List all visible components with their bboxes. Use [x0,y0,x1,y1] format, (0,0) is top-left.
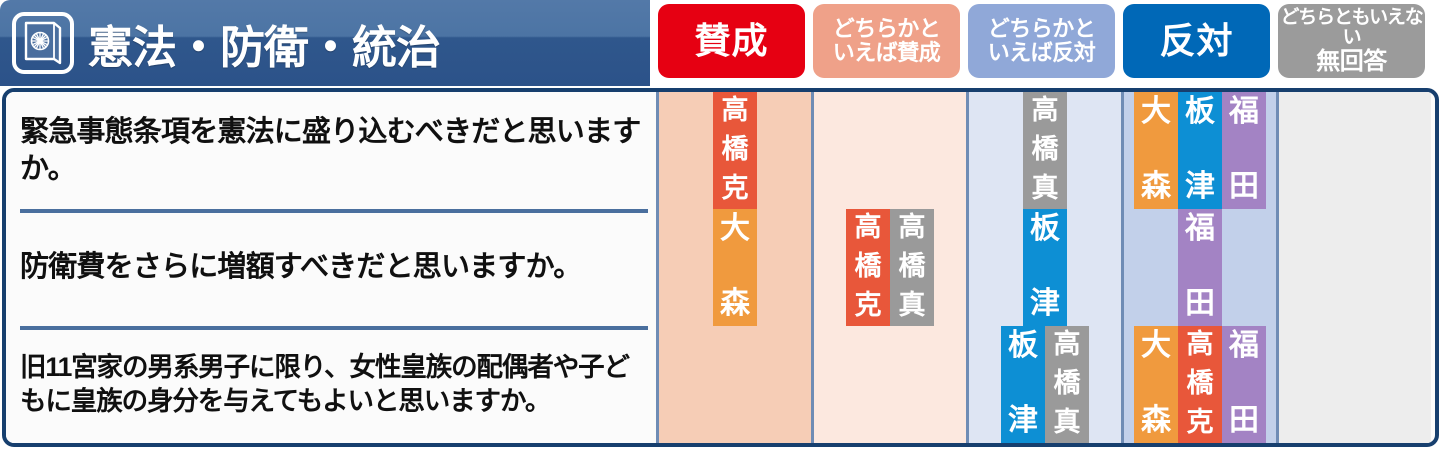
column-header-agree: 賛成 [658,4,805,78]
person-name-char: 橋 [1032,136,1059,163]
person-name-char: 田 [1185,289,1215,319]
person-name-char: 森 [1141,406,1171,436]
answer-cell-lean_agree[interactable] [811,326,966,443]
person-name-char: 橋 [899,253,926,280]
column-header-label: 賛成 [694,22,768,61]
answer-cell-lean_disagree[interactable]: 高橋真 [966,92,1121,209]
person-name-char: 克 [855,292,882,319]
column-header-label: 無回答 [1316,49,1387,75]
column-header-lean_disagree: どちらかといえば反対 [968,4,1115,78]
column-header-disagree: 反対 [1123,4,1270,78]
person-name-char: 大 [1141,97,1171,127]
answer-cell-agree[interactable]: 高橋克 [656,92,811,209]
column-header-label: どちらかと [833,17,941,41]
question-cell: 防衛費をさらに増額すべきだと思いますか。 [6,209,656,326]
column-header-label: どちらともいえない [1278,8,1425,49]
question-text: 防衛費をさらに増額すべきだと思いますか。 [20,249,581,286]
answer-cell-neither[interactable] [1276,326,1431,443]
column-header-label: いえば賛成 [833,41,941,65]
answer-cell-lean_agree[interactable] [811,92,966,209]
person-name-char: 克 [1187,409,1214,436]
table-row: 旧11宮家の男系男子に限り、女性皇族の配偶者や子どもに皇族の身分を与えてもよいと… [6,326,1435,443]
person-chip[interactable]: 板津 [1023,209,1067,326]
person-chip[interactable]: 福田 [1222,92,1266,209]
person-chip[interactable]: 板津 [1178,92,1222,209]
person-name-char: 福 [1185,214,1215,244]
person-name-char: 大 [1141,331,1171,361]
person-name-char: 橋 [722,136,749,163]
person-name-char: 津 [1185,172,1215,202]
column-header-neither: どちらともいえない無回答 [1278,4,1425,78]
answer-cells: 大森高橋克高橋真板津福田 [656,209,1435,326]
person-name-char: 森 [720,289,750,319]
person-name-char: 橋 [1187,370,1214,397]
answer-cell-neither[interactable] [1276,209,1431,326]
person-chip[interactable]: 大森 [713,209,757,326]
answer-cell-agree[interactable] [656,326,811,443]
person-name-char: 板 [1030,214,1060,244]
table-row: 緊急事態条項を憲法に盛り込むべきだと思いますか。高橋克高橋真大森板津福田 [6,92,1435,209]
person-name-char: 田 [1229,172,1259,202]
answer-cell-lean_agree[interactable]: 高橋克高橋真 [811,209,966,326]
column-header-label: どちらかと [988,17,1096,41]
person-chip[interactable]: 大森 [1134,92,1178,209]
answer-column-headers: 賛成どちらかといえば賛成どちらかといえば反対反対どちらともいえない無回答 [654,4,1441,82]
section-header-band: 憲法・防衛・統治 [0,0,650,86]
answer-cell-lean_disagree[interactable]: 板津 [966,209,1121,326]
person-name-char: 高 [899,214,926,241]
person-chip[interactable]: 高橋真 [1023,92,1067,209]
person-name-char: 高 [722,97,749,124]
column-header-label: いえば反対 [988,41,1096,65]
person-name-char: 福 [1229,331,1259,361]
person-name-char: 福 [1229,97,1259,127]
question-text: 緊急事態条項を憲法に盛り込むべきだと思いますか。 [20,114,646,187]
person-name-char: 克 [722,175,749,202]
person-name-char: 橋 [1054,370,1081,397]
answer-cell-disagree[interactable]: 福田 [1121,209,1276,326]
survey-table: 緊急事態条項を憲法に盛り込むべきだと思いますか。高橋克高橋真大森板津福田防衛費を… [2,88,1439,447]
person-name-char: 橋 [855,253,882,280]
column-header-lean_agree: どちらかといえば賛成 [813,4,960,78]
person-name-char: 高 [855,214,882,241]
person-name-char: 真 [1054,409,1081,436]
answer-cell-agree[interactable]: 大森 [656,209,811,326]
person-name-char: 高 [1054,331,1081,358]
question-cell: 旧11宮家の男系男子に限り、女性皇族の配偶者や子どもに皇族の身分を与えてもよいと… [6,326,656,443]
answer-cell-neither[interactable] [1276,92,1431,209]
person-name-char: 田 [1229,406,1259,436]
person-name-char: 高 [1187,331,1214,358]
person-name-char: 森 [1141,172,1171,202]
person-chip[interactable]: 福田 [1178,209,1222,326]
person-chip[interactable]: 高橋真 [1045,326,1089,443]
answer-cell-lean_disagree[interactable]: 板津高橋真 [966,326,1121,443]
person-name-char: 板 [1008,331,1038,361]
person-chip[interactable]: 板津 [1001,326,1045,443]
person-chip[interactable]: 高橋克 [1178,326,1222,443]
person-name-char: 板 [1185,97,1215,127]
person-chip[interactable]: 高橋克 [846,209,890,326]
answer-cells: 板津高橋真大森高橋克福田 [656,326,1435,443]
person-chip[interactable]: 大森 [1134,326,1178,443]
person-name-char: 津 [1008,406,1038,436]
page-title: 憲法・防衛・統治 [88,11,440,76]
person-name-char: 真 [1032,175,1059,202]
person-name-char: 高 [1032,97,1059,124]
person-chip[interactable]: 高橋真 [890,209,934,326]
person-name-char: 真 [899,292,926,319]
person-name-char: 津 [1030,289,1060,319]
question-cell: 緊急事態条項を憲法に盛り込むべきだと思いますか。 [6,92,656,209]
question-text: 旧11宮家の男系男子に限り、女性皇族の配偶者や子どもに皇族の身分を与えてもよいと… [20,351,646,418]
person-chip[interactable]: 高橋克 [713,92,757,209]
column-header-label: 反対 [1159,22,1233,61]
person-name-char: 大 [720,214,750,244]
answer-cell-disagree[interactable]: 大森板津福田 [1121,92,1276,209]
answer-cells: 高橋克高橋真大森板津福田 [656,92,1435,209]
table-row: 防衛費をさらに増額すべきだと思いますか。大森高橋克高橋真板津福田 [6,209,1435,326]
answer-cell-disagree[interactable]: 大森高橋克福田 [1121,326,1276,443]
book-chrysanthemum-icon [12,12,74,74]
survey-table-root: 憲法・防衛・統治 賛成どちらかといえば賛成どちらかといえば反対反対どちらともいえ… [0,0,1441,449]
person-chip[interactable]: 福田 [1222,326,1266,443]
